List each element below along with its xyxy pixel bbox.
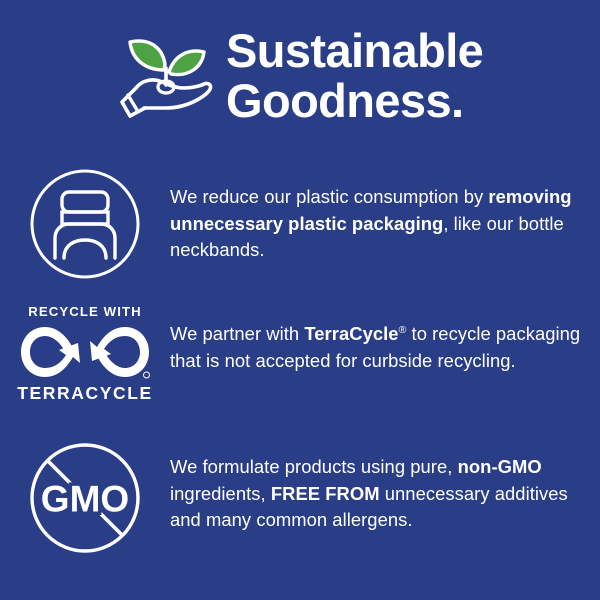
- no-gmo-circle-icon: GMO: [29, 442, 141, 554]
- recycle-with-label: RECYCLE WITH: [28, 304, 142, 319]
- terracycle-infinity-logo: [18, 323, 152, 381]
- feature-icon-slot: [0, 168, 170, 280]
- feature-row-gmo: GMO We formulate products using pure, no…: [0, 442, 600, 554]
- gmo-label: GMO: [41, 479, 129, 520]
- text-segment-bold: FREE FROM: [271, 483, 380, 504]
- page-title: Sustainable Goodness.: [226, 26, 483, 126]
- feature-text-terracycle: We partner with TerraCycle® to recycle p…: [170, 304, 600, 374]
- text-segment: We partner with: [170, 323, 304, 344]
- feature-text-gmo: We formulate products using pure, non-GM…: [170, 442, 600, 534]
- feature-icon-slot: GMO: [0, 442, 170, 554]
- text-segment: ingredients,: [170, 483, 271, 504]
- feature-text-plastic: We reduce our plastic consumption by rem…: [170, 168, 600, 264]
- text-segment-bold: non-GMO: [458, 456, 542, 477]
- text-segment: We formulate products using pure,: [170, 456, 458, 477]
- feature-row-terracycle: RECYCLE WITH TERRACYCLE We partner with …: [0, 304, 600, 404]
- text-segment: We reduce our plastic consumption by: [170, 186, 488, 207]
- bottle-in-circle-icon: [29, 168, 141, 280]
- header: Sustainable Goodness.: [0, 0, 600, 152]
- text-segment-bold: TerraCycle: [304, 323, 398, 344]
- terracycle-badge: RECYCLE WITH TERRACYCLE: [15, 304, 155, 404]
- sprout-in-hand-icon: [114, 24, 220, 130]
- feature-row-plastic: We reduce our plastic consumption by rem…: [0, 168, 600, 280]
- terracycle-wordmark: TERRACYCLE: [17, 383, 153, 404]
- feature-icon-slot: RECYCLE WITH TERRACYCLE: [0, 304, 170, 404]
